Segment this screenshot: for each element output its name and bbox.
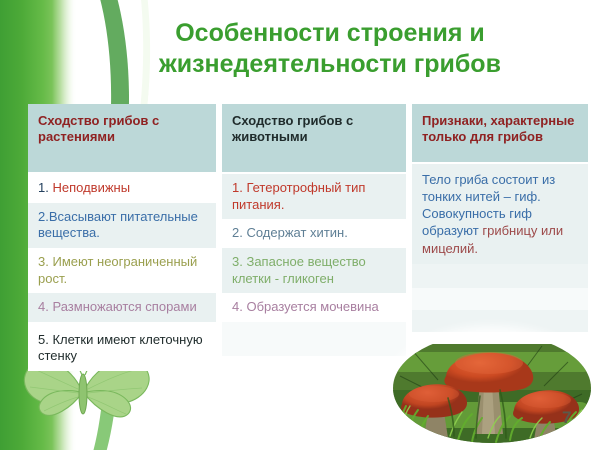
table-row: 3. Запасное вещество клетки - гликоген: [222, 248, 406, 293]
table-column-animals: Сходство грибов с животными 1. Гетеротро…: [222, 104, 406, 356]
comparison-table: Сходство грибов с растениями 1. Неподвиж…: [28, 104, 588, 344]
row-text: Запасное вещество клетки - гликоген: [232, 254, 366, 286]
column-body-animals: 1. Гетеротрофный тип питания. 2. Содержа…: [222, 172, 406, 356]
table-row: 4. Размножаются спорами: [28, 293, 216, 322]
title-line-1: Особенности строения и: [95, 18, 565, 49]
table-row-filler: [412, 288, 588, 310]
column-body-plants: 1. Неподвижны 2.Всасывают питательные ве…: [28, 172, 216, 371]
row-number: 4.: [38, 299, 49, 314]
table-row: 1. Неподвижны: [28, 174, 216, 203]
title-line-2: жизнедеятельности грибов: [95, 49, 565, 80]
row-number: 1.: [38, 180, 49, 195]
table-row: 2.Всасывают питательные вещества.: [28, 203, 216, 248]
column-header-animals: Сходство грибов с животными: [222, 104, 406, 172]
row-number: 5.: [38, 332, 49, 347]
column-header-plants: Сходство грибов с растениями: [28, 104, 216, 172]
column-body-fungi-only: Тело гриба состоит из тонких нитей – гиф…: [412, 162, 588, 332]
row-number: 3.: [232, 254, 243, 269]
row-text: Имеют неограниченный рост.: [38, 254, 197, 286]
row-number: 1.: [232, 180, 243, 195]
table-column-fungi-only: Признаки, характерные только для грибов …: [412, 104, 588, 332]
row-text: Клетки имеют клеточную стенку: [38, 332, 203, 364]
table-row: 3. Имеют неограниченный рост.: [28, 248, 216, 293]
table-column-plants: Сходство грибов с растениями 1. Неподвиж…: [28, 104, 216, 371]
row-number: 2.: [232, 225, 243, 240]
table-row: 5. Клетки имеют клеточную стенку: [28, 322, 216, 371]
row-text: Содержат хитин.: [246, 225, 347, 240]
table-row-filler: [412, 264, 588, 288]
table-row-filler: [412, 310, 588, 332]
table-row-filler: [222, 322, 406, 356]
row-text: Гетеротрофный тип питания.: [232, 180, 365, 212]
page-number: 7: [562, 408, 571, 428]
table-row: 4. Образуется мочевина: [222, 293, 406, 322]
row-text: Размножаются спорами: [52, 299, 196, 314]
row-text: Неподвижны: [52, 180, 130, 195]
table-row: 1. Гетеротрофный тип питания.: [222, 174, 406, 219]
fungi-description: Тело гриба состоит из тонких нитей – гиф…: [412, 164, 588, 264]
row-text: Образуется мочевина: [246, 299, 378, 314]
table-row: 2. Содержат хитин.: [222, 219, 406, 248]
row-number: 3.: [38, 254, 49, 269]
slide: Особенности строения и жизнедеятельности…: [0, 0, 600, 450]
row-number: 2.: [38, 209, 49, 224]
page-title: Особенности строения и жизнедеятельности…: [95, 18, 565, 79]
column-header-fungi-only: Признаки, характерные только для грибов: [412, 104, 588, 162]
row-number: 4.: [232, 299, 243, 314]
row-text: Всасывают питательные вещества.: [38, 209, 198, 241]
